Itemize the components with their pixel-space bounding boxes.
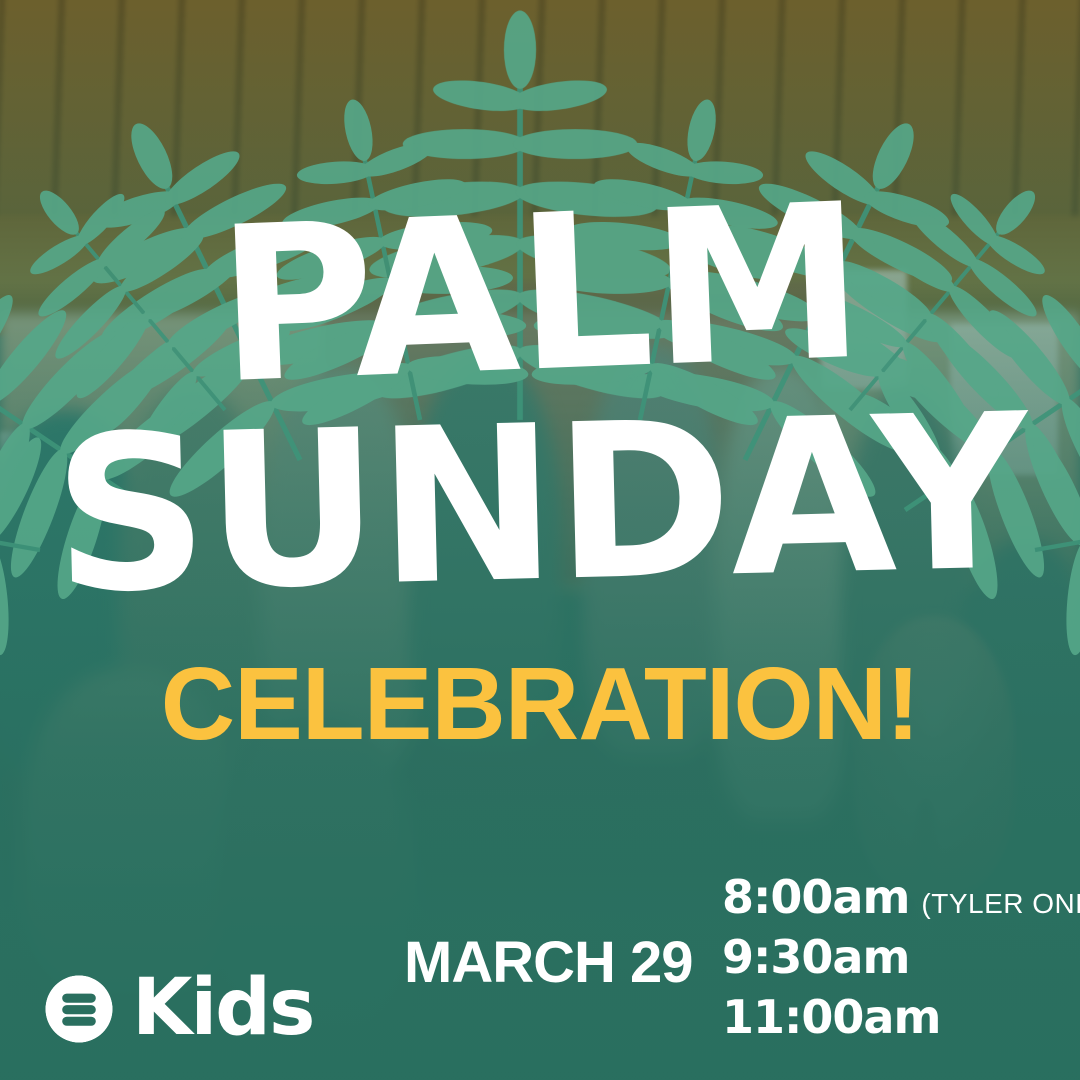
circle-three-bars-icon: [44, 974, 114, 1044]
service-time-row: 8:00am (TYLER ONLY): [722, 870, 1080, 924]
service-time: 9:30am: [722, 930, 909, 984]
service-time: 8:00am: [722, 870, 909, 924]
service-time: 11:00am: [722, 990, 940, 1044]
event-date: MARCH 29: [404, 929, 693, 996]
footer: Kids MARCH 29 8:00am (TYLER ONLY) 9:30am…: [0, 880, 1080, 1080]
brand-lockup: Kids: [44, 974, 313, 1044]
service-times-list: 8:00am (TYLER ONLY) 9:30am 11:00am: [722, 870, 1080, 1044]
brand-wordmark: Kids: [132, 977, 313, 1041]
palm-sunday-poster: PALM SUNDAY CELEBRATION! Kids MA: [0, 0, 1080, 1080]
service-time-row: 11:00am: [722, 990, 1080, 1044]
service-time-note: (TYLER ONLY): [921, 888, 1080, 920]
service-time-row: 9:30am: [722, 930, 1080, 984]
palm-frond-decoration: [0, 0, 1080, 750]
